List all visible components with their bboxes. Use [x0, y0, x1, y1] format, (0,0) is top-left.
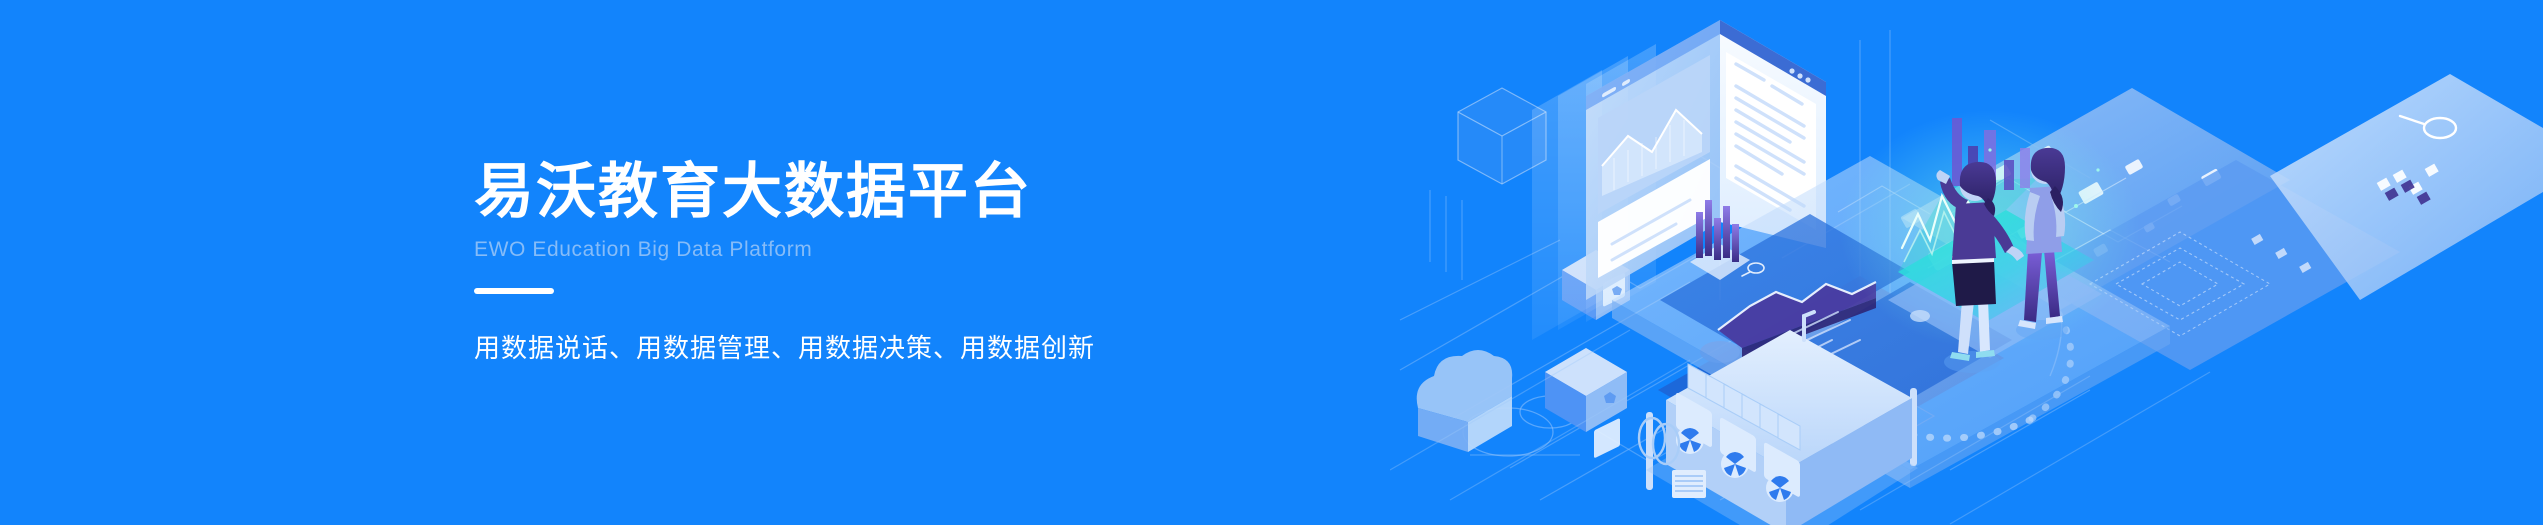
title-divider — [474, 288, 554, 294]
hero-banner: 易沃教育大数据平台 EWO Education Big Data Platfor… — [0, 0, 2543, 525]
rack-vent — [1672, 470, 1706, 498]
isometric-illustration — [1390, 0, 2543, 525]
page-title: 易沃教育大数据平台 — [474, 160, 1374, 223]
banner-copy: 易沃教育大数据平台 EWO Education Big Data Platfor… — [474, 0, 1374, 525]
cloud-icon — [1417, 350, 1512, 452]
page-subtitle: EWO Education Big Data Platform — [474, 237, 1374, 262]
page-tagline: 用数据说话、用数据管理、用数据决策、用数据创新 — [474, 332, 1374, 366]
